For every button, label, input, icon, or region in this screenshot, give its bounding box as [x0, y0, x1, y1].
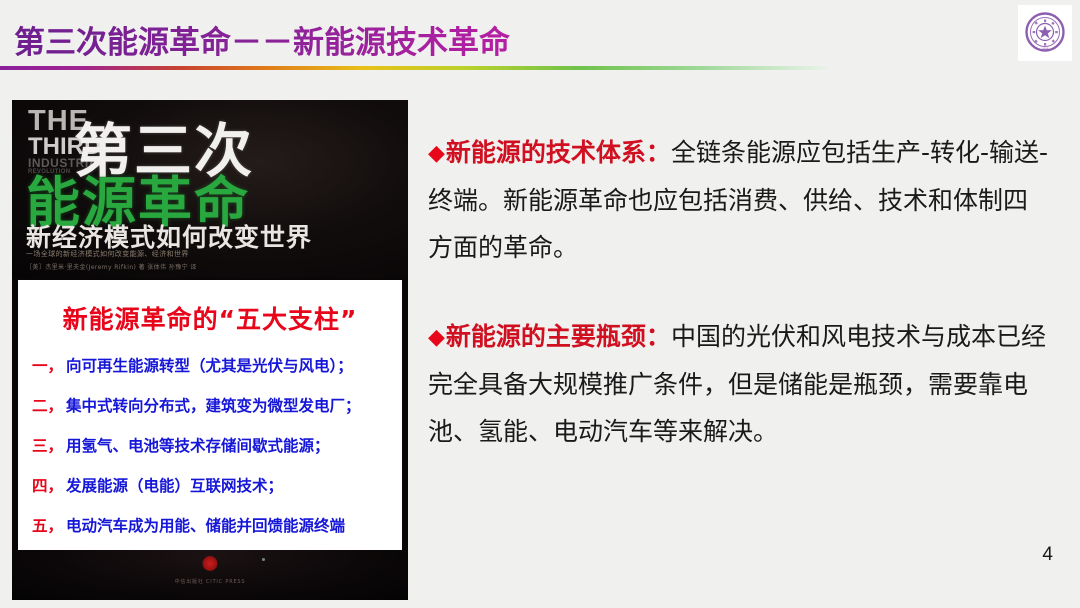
book-cover-artwork: THE THIRD INDUSTRIAL REVOLUTION 第三次 能源革命…	[12, 100, 408, 278]
pillar-number: 一，	[32, 354, 63, 376]
pillar-number: 五，	[32, 514, 63, 536]
book-cover-footer: 中信出版社 CITIC PRESS	[12, 550, 408, 600]
pillar-text: 用氢气、电池等技术存储间歇式能源；	[66, 434, 330, 456]
book-cover-image: THE THIRD INDUSTRIAL REVOLUTION 第三次 能源革命…	[12, 100, 408, 600]
page-number: 4	[1042, 544, 1053, 566]
list-item: 一， 向可再生能源转型（尤其是光伏与风电）；	[32, 354, 394, 376]
list-item: 四， 发展能源（电能）互联网技术；	[32, 474, 394, 496]
list-item: 三， 用氢气、电池等技术存储间歇式能源；	[32, 434, 394, 456]
publisher-logo-icon	[203, 556, 218, 571]
bullet-lead-label: 新能源的技术体系：	[446, 138, 671, 167]
publisher-label: 中信出版社 CITIC PRESS	[175, 578, 246, 585]
bullet-lead-label: 新能源的主要瓶颈：	[446, 322, 671, 351]
pillar-number: 三，	[32, 434, 63, 456]
page-title: 第三次能源革命－－新能源技术革命	[14, 17, 510, 62]
book-credit-line-2: ［美］杰里米·里夫金(Jeremy Rifkin) 著 张体伟 孙豫宁 译	[26, 262, 197, 271]
pillar-number: 二，	[32, 394, 63, 416]
five-pillars-heading: 新能源革命的“五大支柱”	[26, 300, 394, 336]
bullet-paragraph: ◆新能源的技术体系：全链条能源应包括生产-转化-输送-终端。新能源革命也应包括消…	[428, 129, 1048, 271]
seal-icon: 1898	[1023, 10, 1067, 56]
university-seal-logo: 1898	[1018, 5, 1072, 61]
decorative-sparkle-icon	[262, 558, 265, 561]
list-item: 二， 集中式转向分布式，建筑变为微型发电厂；	[32, 394, 394, 416]
five-pillars-panel: 新能源革命的“五大支柱” 一， 向可再生能源转型（尤其是光伏与风电）； 二， 集…	[18, 280, 402, 550]
slide-body-content: ◆新能源的技术体系：全链条能源应包括生产-转化-输送-终端。新能源革命也应包括消…	[428, 104, 1048, 480]
diamond-bullet-icon: ◆	[428, 325, 445, 350]
bullet-paragraph: ◆新能源的主要瓶颈：中国的光伏和风电技术与成本已经完全具备大规模推广条件，但是储…	[428, 313, 1048, 455]
bullet-block-technology-system: ◆新能源的技术体系：全链条能源应包括生产-转化-输送-终端。新能源革命也应包括消…	[428, 129, 1048, 271]
pillar-text: 发展能源（电能）互联网技术；	[66, 474, 283, 496]
book-credit-line-1: 一场全球的新经济模式如何改变能源、经济和世界	[26, 249, 189, 259]
slide-header: 第三次能源革命－－新能源技术革命	[0, 0, 1080, 80]
svg-text:1898: 1898	[1041, 47, 1048, 51]
title-divider-rule	[0, 66, 827, 70]
pillar-number: 四，	[32, 474, 63, 496]
diamond-bullet-icon: ◆	[428, 141, 445, 166]
bullet-block-main-bottleneck: ◆新能源的主要瓶颈：中国的光伏和风电技术与成本已经完全具备大规模推广条件，但是储…	[428, 313, 1048, 455]
pillar-text: 电动汽车成为用能、储能并回馈能源终端	[66, 514, 345, 536]
list-item: 五， 电动汽车成为用能、储能并回馈能源终端	[32, 514, 394, 536]
pillar-text: 集中式转向分布式，建筑变为微型发电厂；	[66, 394, 361, 416]
pillar-text: 向可再生能源转型（尤其是光伏与风电）；	[66, 354, 353, 376]
